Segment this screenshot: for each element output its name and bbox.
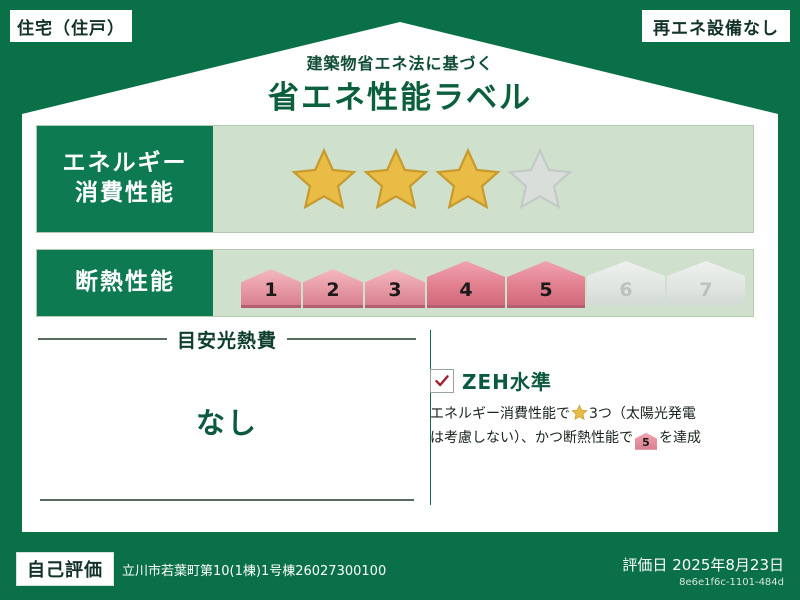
zeh-standard-block: ZEH水準 エネルギー消費性能で3つ（太陽光発電 は考慮しない）、かつ断熱性能で… (430, 366, 760, 451)
energy-cost-bottom-rule (40, 499, 414, 501)
insulation-label-text: 断熱性能 (75, 268, 175, 298)
badge-number: 5 (539, 279, 552, 301)
zeh-title: ZEH水準 (462, 366, 552, 395)
footer-left: 自己評価 立川市若葉町第10(1棟)1号棟26027300100 (16, 552, 386, 586)
energy-cost-panel: 目安光熱費 なし (38, 326, 416, 511)
energy-cost-title: 目安光熱費 (177, 326, 277, 353)
insulation-level-2: 2 (303, 269, 363, 305)
zeh-desc-part3: は考慮しない）、かつ断熱性能で (430, 430, 633, 446)
inline-badge-number: 5 (635, 433, 657, 453)
zeh-desc-part4: を達成 (659, 430, 701, 446)
zeh-desc-part2: 3つ（太陽光発電 (589, 406, 696, 422)
insulation-level-5: 5 (507, 261, 585, 305)
insulation-level-6: 6 (587, 261, 665, 305)
badge-number: 2 (326, 279, 339, 301)
badge-number: 1 (264, 279, 277, 301)
inline-insulation-badge: 5 (635, 433, 657, 450)
badge-number: 3 (388, 279, 401, 301)
insulation-level-scale: 1234567 (241, 261, 745, 305)
insulation-level-3: 3 (365, 269, 425, 305)
energy-performance-row: エネルギー 消費性能 (36, 125, 754, 233)
energy-cost-value: なし (38, 400, 416, 442)
insulation-performance-value: 1234567 (213, 250, 753, 316)
energy-performance-label: 住宅（住戸） 再エネ設備なし 建築物省エネ法に基づく 省エネ性能ラベル エネルギ… (0, 0, 800, 600)
rule-right (287, 338, 416, 340)
zeh-checkbox (430, 369, 454, 393)
zeh-description: エネルギー消費性能で3つ（太陽光発電 は考慮しない）、かつ断熱性能で5を達成 (430, 403, 760, 451)
star-filled-icon (291, 146, 357, 212)
zeh-heading: ZEH水準 (430, 366, 760, 395)
star-rating (291, 146, 573, 212)
insulation-performance-label: 断熱性能 (37, 250, 213, 316)
zeh-desc-part1: エネルギー消費性能で (430, 406, 570, 422)
evaluation-date: 評価日 2025年8月23日 (622, 554, 784, 575)
check-icon (434, 373, 450, 389)
self-evaluation-badge: 自己評価 (16, 552, 114, 586)
energy-performance-label: エネルギー 消費性能 (37, 126, 213, 232)
document-hash: 8e6e1f6c-1101-484d (622, 577, 784, 588)
insulation-level-7: 7 (667, 261, 745, 305)
footer-right: 評価日 2025年8月23日 8e6e1f6c-1101-484d (622, 554, 784, 588)
insulation-level-4: 4 (427, 261, 505, 305)
star-empty-icon (507, 146, 573, 212)
insulation-level-1: 1 (241, 269, 301, 305)
star-filled-icon (363, 146, 429, 212)
star-filled-icon (435, 146, 501, 212)
label-subtitle: 建築物省エネ法に基づく (0, 50, 800, 74)
rule-left (38, 338, 167, 340)
building-type-tag: 住宅（住戸） (8, 8, 134, 44)
energy-label-line1: エネルギー (63, 149, 188, 179)
property-address: 立川市若葉町第10(1棟)1号棟26027300100 (122, 560, 386, 579)
badge-number: 7 (699, 279, 712, 301)
energy-performance-value (213, 126, 753, 232)
energy-label-line2: 消費性能 (75, 179, 175, 209)
energy-cost-heading: 目安光熱費 (38, 326, 416, 352)
renewable-equipment-tag: 再エネ設備なし (640, 8, 792, 44)
insulation-performance-row: 断熱性能 1234567 (36, 249, 754, 317)
badge-number: 6 (619, 279, 632, 301)
star-icon (571, 404, 588, 421)
label-title: 省エネ性能ラベル (0, 72, 800, 117)
badge-number: 4 (459, 279, 472, 301)
